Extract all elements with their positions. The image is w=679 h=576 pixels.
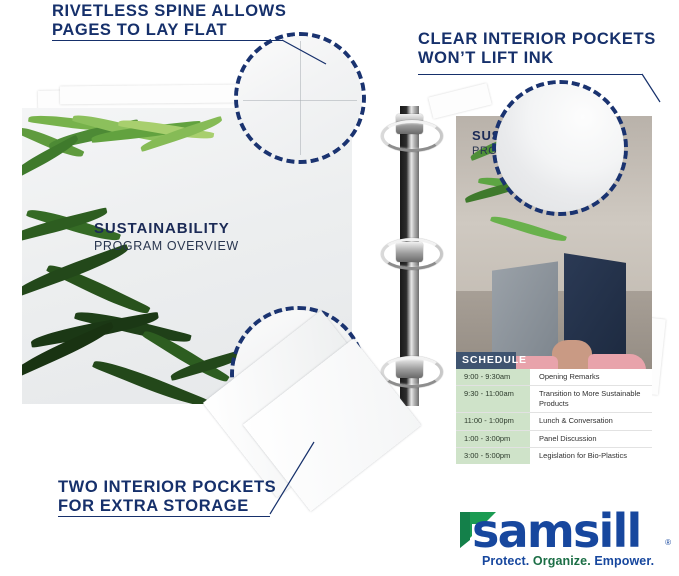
magnifier-content [234, 310, 362, 438]
magnifier-clear-interior-pockets [492, 80, 628, 216]
magnifier-two-interior-pockets [230, 306, 366, 442]
callout-rule [418, 74, 642, 75]
schedule-table: SCHEDULE 9:00 - 9:30am Opening Remarks 9… [456, 352, 652, 468]
schedule-item: Transition to More Sustainable Products [530, 386, 652, 412]
leader-line-two-interior-pockets [268, 440, 318, 518]
table-row: 1:00 - 3:00pm Panel Discussion [456, 431, 652, 448]
registered-trademark-icon: ® [665, 538, 671, 547]
schedule-item: Panel Discussion [530, 431, 652, 447]
magnifier-content [496, 84, 624, 212]
tagline-empower: Empower. [591, 554, 654, 568]
tagline-organize: Organize. [529, 554, 590, 568]
callout-rivetless-spine: RIVETLESS SPINE ALLOWS PAGES TO LAY FLAT [52, 2, 286, 41]
schedule-item: Lunch & Conversation [530, 413, 652, 429]
schedule-heading: SCHEDULE [456, 352, 516, 369]
leader-line-rivetless-spine [280, 38, 340, 68]
samsill-wordmark: samsill [472, 504, 640, 558]
photo-held-binder-left [492, 261, 558, 366]
schedule-time: 9:30 - 11:00am [456, 386, 530, 412]
product-feature-image: SUSTAINABILITY PROGRAM OVERVIEW [0, 0, 679, 576]
table-row: 11:00 - 1:00pm Lunch & Conversation [456, 413, 652, 430]
schedule-item: Opening Remarks [530, 369, 652, 385]
callout-clear-interior-pockets: CLEAR INTERIOR POCKETS WON’T LIFT INK [418, 30, 656, 69]
left-doc-title: SUSTAINABILITY [94, 220, 230, 237]
paper-crease-horizontal [243, 100, 357, 101]
callout-rule [58, 516, 270, 517]
table-row: 3:00 - 5:00pm Legislation for Bio-Plasti… [456, 448, 652, 464]
schedule-time: 3:00 - 5:00pm [456, 448, 530, 464]
table-row: 9:30 - 11:00am Transition to More Sustai… [456, 386, 652, 413]
schedule-body: 9:00 - 9:30am Opening Remarks 9:30 - 11:… [456, 369, 652, 464]
schedule-time: 11:00 - 1:00pm [456, 413, 530, 429]
schedule-time: 9:00 - 9:30am [456, 369, 530, 385]
schedule-time: 1:00 - 3:00pm [456, 431, 530, 447]
tagline-protect: Protect. [482, 554, 529, 568]
schedule-item: Legislation for Bio-Plastics [530, 448, 652, 464]
samsill-logo: samsill ® Protect. Organize. Empower. [458, 508, 673, 570]
callout-rule [52, 40, 283, 41]
leader-line-clear-interior-pockets [640, 72, 670, 108]
samsill-tagline: Protect. Organize. Empower. [482, 554, 654, 568]
bamboo-leaf [490, 212, 567, 245]
callout-two-interior-pockets: TWO INTERIOR POCKETS FOR EXTRA STORAGE [58, 478, 276, 517]
table-row: 9:00 - 9:30am Opening Remarks [456, 369, 652, 386]
left-doc-subtitle: PROGRAM OVERVIEW [94, 239, 239, 253]
